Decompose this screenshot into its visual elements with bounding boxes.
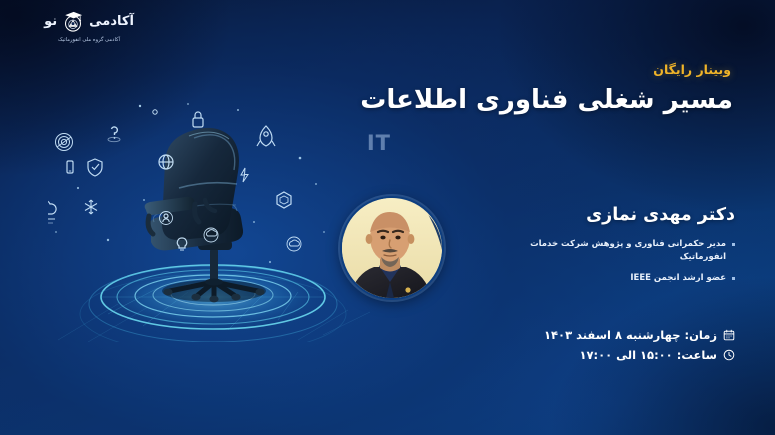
poster-content: وبینار رایگان مسیر شغلی فناوری اطلاعات I… (333, 0, 753, 435)
avatar (340, 196, 444, 300)
schedule-time-row: ساعت: ۱۵:۰۰ الی ۱۷:۰۰ (485, 348, 735, 362)
webinar-poster: آکادمی نو آکادمی گروه ملی انفورماتیک (0, 0, 775, 435)
schedule-date-value: چهارشنبه ۸ اسفند ۱۴۰۳ (544, 328, 680, 342)
speaker-credentials: مدیر حکمرانی فناوری و پژوهش شرکت خدمات ا… (505, 238, 735, 294)
schedule-date-text: زمان: چهارشنبه ۸ اسفند ۱۴۰۳ (544, 328, 717, 342)
list-item: مدیر حکمرانی فناوری و پژوهش شرکت خدمات ا… (505, 238, 735, 264)
schedule-block: زمان: چهارشنبه ۸ اسفند ۱۴۰۳ ساعت: ۱۵:۰۰ … (485, 328, 735, 368)
page-title-sub: IT (367, 131, 391, 155)
speaker-name: دکتر مهدی نمازی (586, 205, 735, 225)
kicker-label: وبینار رایگان (653, 62, 731, 77)
office-chair-illustration (48, 92, 378, 342)
schedule-time-text: ساعت: ۱۵:۰۰ الی ۱۷:۰۰ (579, 348, 717, 362)
logo-word-left: نو (44, 15, 57, 28)
clock-icon (723, 349, 735, 361)
graduation-cap-icon (60, 8, 86, 34)
schedule-time-label: ساعت: (677, 348, 717, 362)
logo-row: آکادمی نو (14, 8, 164, 34)
schedule-date-label: زمان: (685, 328, 717, 342)
brand-logo[interactable]: آکادمی نو آکادمی گروه ملی انفورماتیک (14, 8, 164, 43)
page-title: مسیر شغلی فناوری اطلاعات (360, 84, 733, 117)
logo-word-right: آکادمی (89, 15, 134, 28)
list-item: عضو ارشد انجمن IEEE (505, 272, 735, 285)
logo-tagline: آکادمی گروه ملی انفورماتیک (14, 37, 164, 43)
calendar-icon (723, 329, 735, 341)
schedule-time-value: ۱۵:۰۰ الی ۱۷:۰۰ (579, 348, 672, 362)
schedule-date-row: زمان: چهارشنبه ۸ اسفند ۱۴۰۳ (485, 328, 735, 342)
